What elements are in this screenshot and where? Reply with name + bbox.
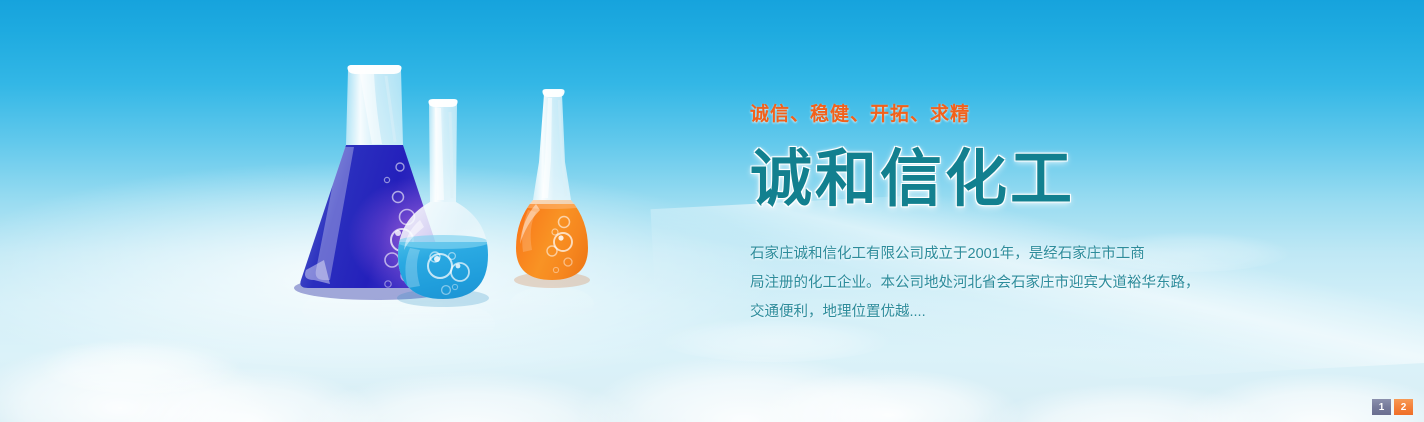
- flask-rim: [429, 99, 458, 107]
- description-line: 石家庄诚和信化工有限公司成立于2001年，是经石家庄市工商: [750, 240, 1270, 269]
- flask-rim: [542, 89, 564, 97]
- banner-description: 石家庄诚和信化工有限公司成立于2001年，是经石家庄市工商 局注册的化工企业。本…: [750, 240, 1270, 327]
- florence-flask-orange: [510, 89, 596, 288]
- banner-copy: 诚信、稳健、开拓、求精 诚和信化工 石家庄诚和信化工有限公司成立于2001年，是…: [750, 104, 1270, 327]
- cloud-shape: [980, 384, 1280, 422]
- cloud-shape: [580, 356, 910, 422]
- banner-tagline: 诚信、稳健、开拓、求精: [750, 104, 1270, 127]
- description-line: 局注册的化工企业。本公司地处河北省会石家庄市迎宾大道裕华东路，: [750, 269, 1270, 298]
- hero-banner: 诚信、稳健、开拓、求精 诚和信化工 石家庄诚和信化工有限公司成立于2001年，是…: [0, 0, 1424, 422]
- cloud-shape: [40, 338, 240, 394]
- cloud-shape: [760, 370, 1020, 422]
- banner-pagination[interactable]: 1 2: [1372, 399, 1413, 415]
- cloud-shape: [300, 372, 640, 422]
- cloud-shape: [120, 368, 380, 422]
- chemistry-flasks-illustration: [280, 52, 640, 342]
- pagination-button-2[interactable]: 2: [1394, 399, 1413, 415]
- description-line: 交通便利，地理位置优越....: [750, 298, 1270, 327]
- pagination-button-1[interactable]: 1: [1372, 399, 1391, 415]
- flask-rim: [348, 65, 402, 74]
- banner-title: 诚和信化工: [750, 145, 1270, 214]
- cloud-shape: [0, 342, 270, 422]
